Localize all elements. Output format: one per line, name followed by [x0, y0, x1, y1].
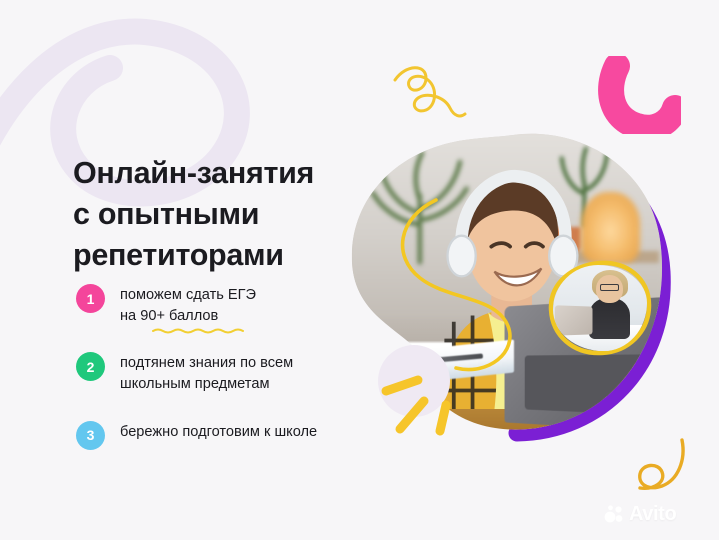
- bullet-badge-1: 1: [76, 284, 105, 313]
- avito-watermark: Avito: [604, 504, 676, 524]
- promo-banner: Онлайн-занятия с опытными репетиторами 1…: [0, 0, 719, 540]
- highlight-90-plus: 90+ баллов: [140, 306, 218, 327]
- tutor-photo: [553, 265, 647, 351]
- yellow-squiggle-decoration: [628, 436, 692, 496]
- headline-line-2: с опытными: [73, 194, 373, 235]
- tutor-inset: [548, 260, 652, 356]
- avito-logo-icon: [604, 504, 624, 524]
- tutor-laptop: [555, 306, 593, 337]
- headline-line-3: репетиторами: [73, 235, 373, 276]
- pink-crescent-decoration: [597, 56, 681, 134]
- page-title: Онлайн-занятия с опытными репетиторами: [73, 153, 373, 275]
- bullet-badge-3: 3: [76, 421, 105, 450]
- yellow-spiral-decoration: [392, 62, 468, 120]
- bullet-1-highlight-text: 90+ баллов: [140, 308, 218, 324]
- tutor-body: [589, 298, 630, 339]
- wavy-underline-icon: [152, 327, 244, 334]
- headline-line-1: Онлайн-занятия: [73, 153, 373, 194]
- bullet-badge-2: 2: [76, 352, 105, 381]
- avito-wordmark: Avito: [629, 504, 676, 524]
- bullet-1-prefix: на: [120, 308, 140, 324]
- glasses-icon: [600, 284, 619, 291]
- photo-cluster: [352, 132, 682, 442]
